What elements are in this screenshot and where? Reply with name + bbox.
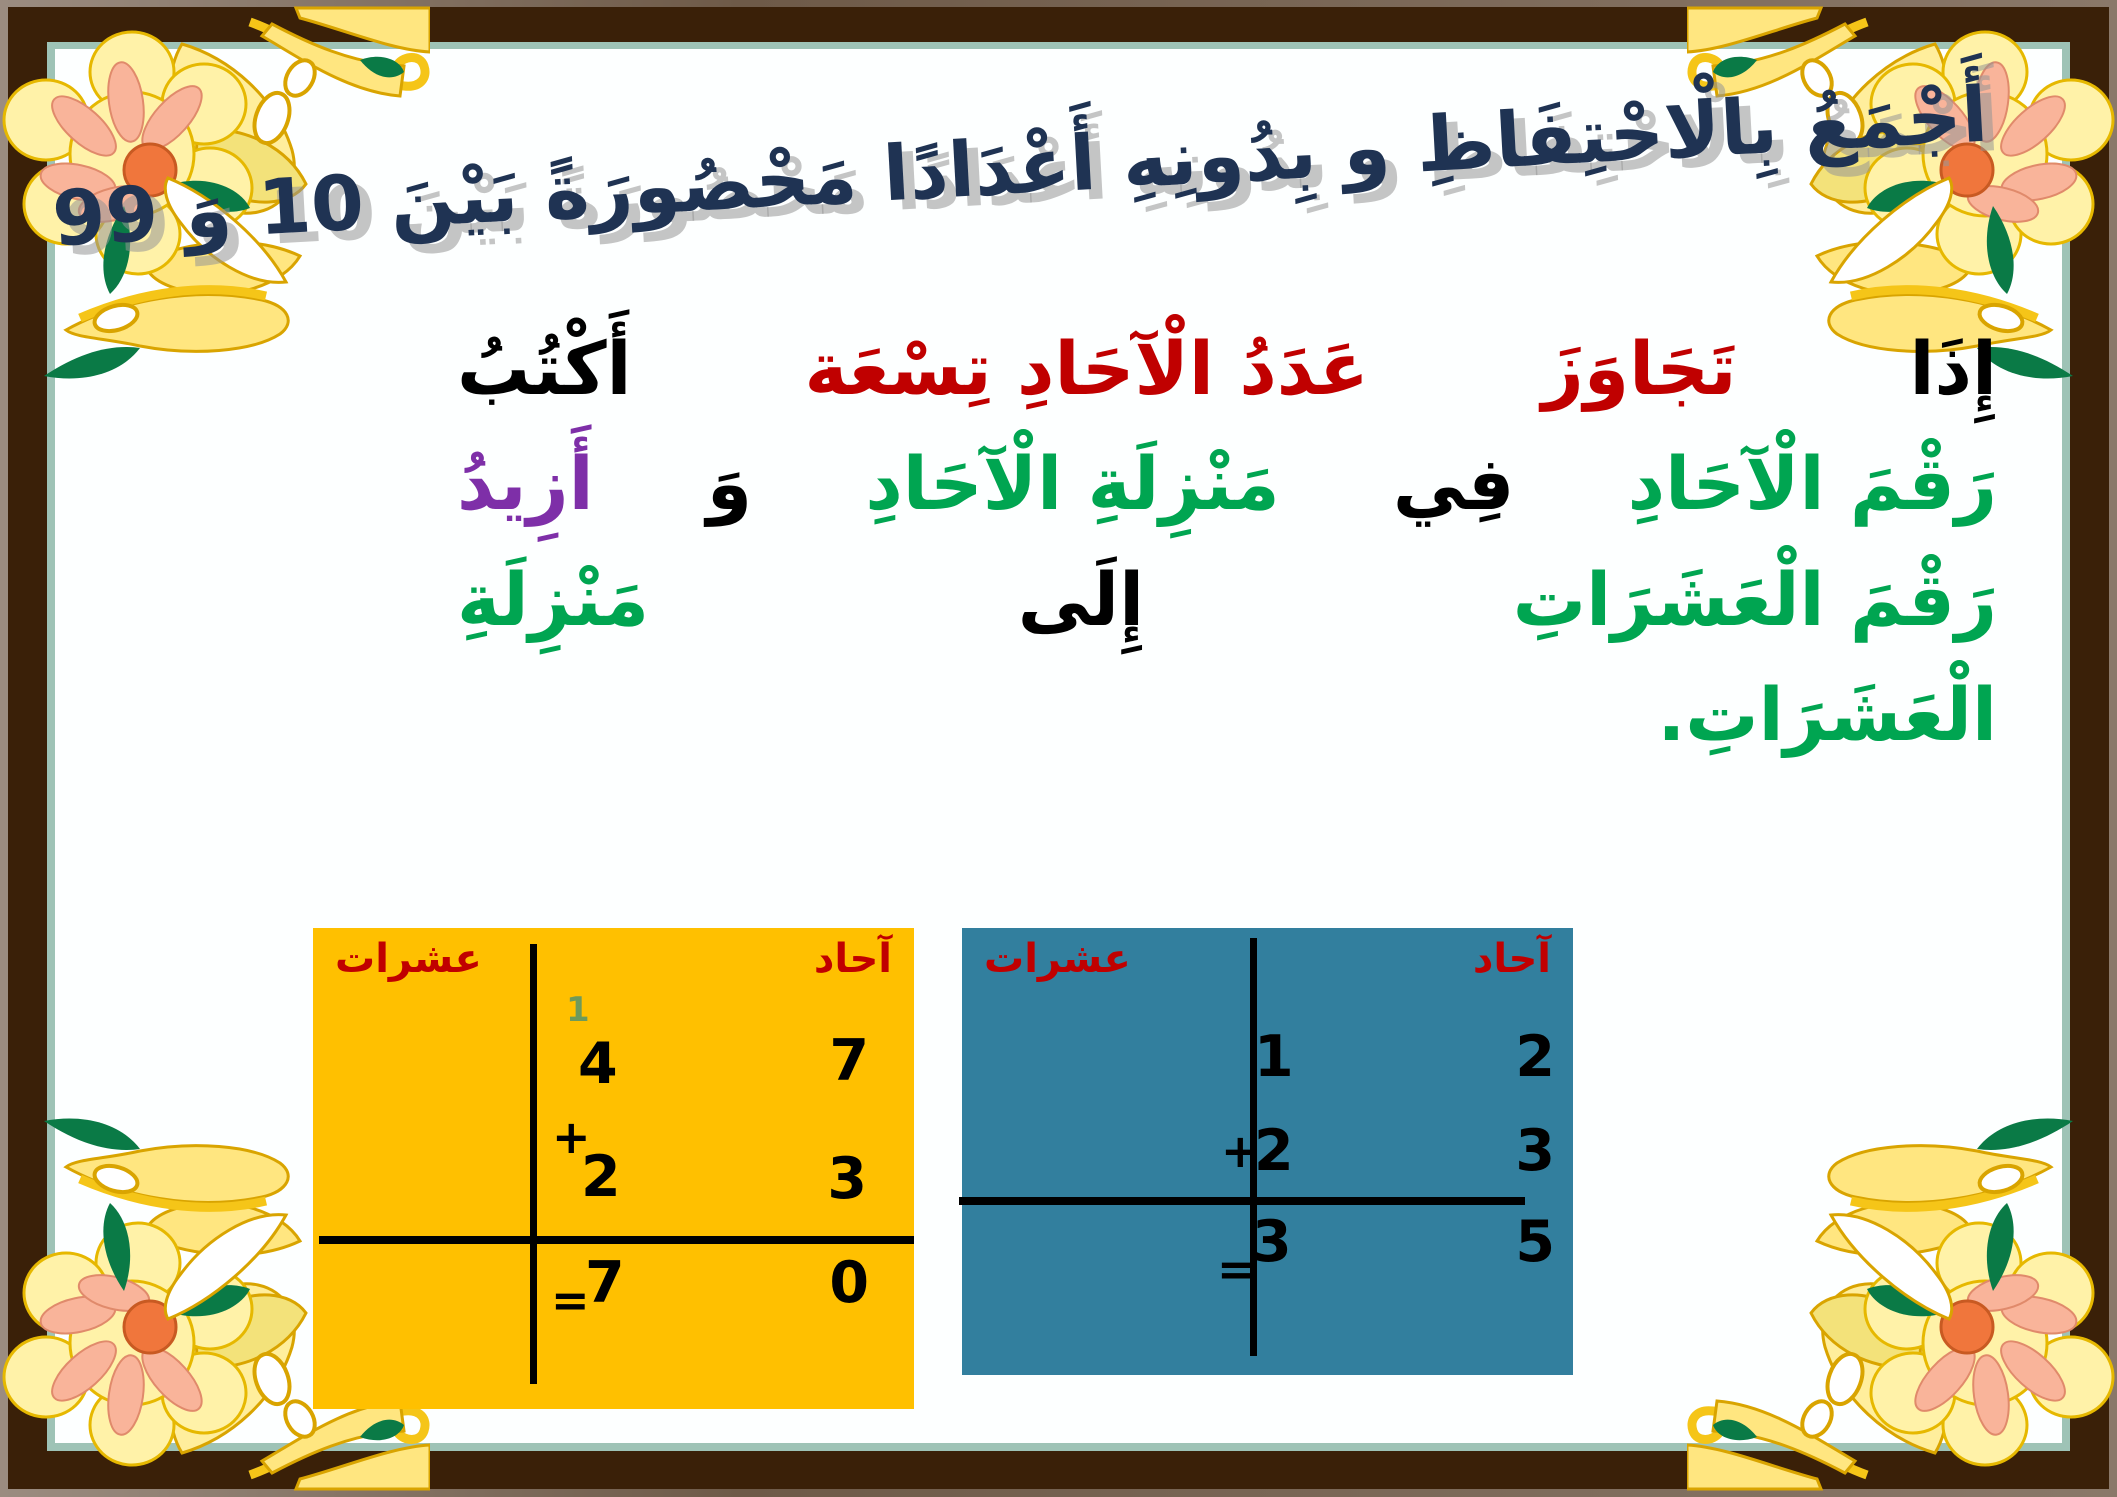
rule-seg-raqm-asharat: رَقْمَ الْعَشَرَاتِ [1513, 543, 1997, 658]
row3-ones-digit: 5 [1515, 1209, 1555, 1275]
rule-seg-manzila-ahad: مَنْزِلَةِ الْآحَادِ [865, 427, 1279, 542]
table-divider-horizontal [959, 1197, 1525, 1205]
rule-seg-aktubu: أَكْتُبُ [457, 312, 632, 427]
operator-equals: = [551, 1273, 590, 1327]
rule-seg-asharat-end: الْعَشَرَاتِ. [1658, 658, 1997, 773]
rule-seg-fi: فِي [1393, 427, 1515, 542]
place-value-table-no-carry: عشرات آحاد 1 2 + 2 3 = 3 5 [962, 928, 1573, 1375]
column-header-ones: آحاد [1473, 936, 1551, 982]
rule-text-line-4: الْعَشَرَاتِ. [457, 658, 1997, 773]
row3-tens-digit: 3 [1252, 1209, 1292, 1275]
table-divider-vertical [530, 944, 537, 1384]
rule-seg-wa: وَ [707, 427, 752, 542]
row2-tens-digit: 2 [1254, 1118, 1294, 1184]
rule-seg-adad-ahad: عَدَدُ الْآحَادِ تِسْعَة [804, 312, 1368, 427]
rule-text-line-3: رَقْمَ الْعَشَرَاتِ إِلَى مَنْزِلَةِ [457, 543, 1997, 658]
row3-ones-digit: 0 [829, 1250, 869, 1316]
row3-tens-digit: 7 [585, 1250, 625, 1316]
operator-equals: = [1217, 1242, 1256, 1296]
column-header-tens: عشرات [335, 936, 482, 982]
rule-text-block: إِذَا تَجَاوَزَ عَدَدُ الْآحَادِ تِسْعَة… [457, 312, 1997, 773]
row1-ones-digit: 2 [1515, 1024, 1555, 1090]
rule-text-line-1: إِذَا تَجَاوَزَ عَدَدُ الْآحَادِ تِسْعَة… [457, 312, 1997, 427]
rule-seg-ila: إِلَى [1018, 543, 1144, 658]
rule-seg-itha: إِذَا [1910, 312, 1998, 427]
carry-digit-tens: 1 [566, 990, 590, 1030]
rule-seg-manzila: مَنْزِلَةِ [457, 543, 649, 658]
rule-seg-raqm-ahad: رَقْمَ الْآحَادِ [1628, 427, 1997, 542]
row1-ones-digit: 7 [829, 1028, 869, 1094]
column-header-ones: آحاد [814, 936, 892, 982]
row2-tens-digit: 2 [581, 1144, 621, 1210]
rule-text-line-2: رَقْمَ الْآحَادِ فِي مَنْزِلَةِ الْآحَاد… [457, 427, 1997, 542]
place-value-table-with-carry: عشرات آحاد 1 4 7 + 2 3 = 7 0 [313, 928, 914, 1409]
table-divider-horizontal [319, 1236, 914, 1244]
rule-seg-tajawaza: تَجَاوَزَ [1542, 312, 1737, 427]
row2-ones-digit: 3 [827, 1146, 867, 1212]
row1-tens-digit: 1 [1254, 1024, 1294, 1090]
row2-ones-digit: 3 [1515, 1118, 1555, 1184]
rule-seg-azidu: أَزِيدُ [457, 427, 594, 542]
row1-tens-digit: 4 [578, 1031, 618, 1097]
column-header-tens: عشرات [984, 936, 1131, 982]
slide-canvas: أَجْمَعُ بِالْاحْتِفَاظِ و بِدُونِهِ أَع… [0, 0, 2117, 1497]
